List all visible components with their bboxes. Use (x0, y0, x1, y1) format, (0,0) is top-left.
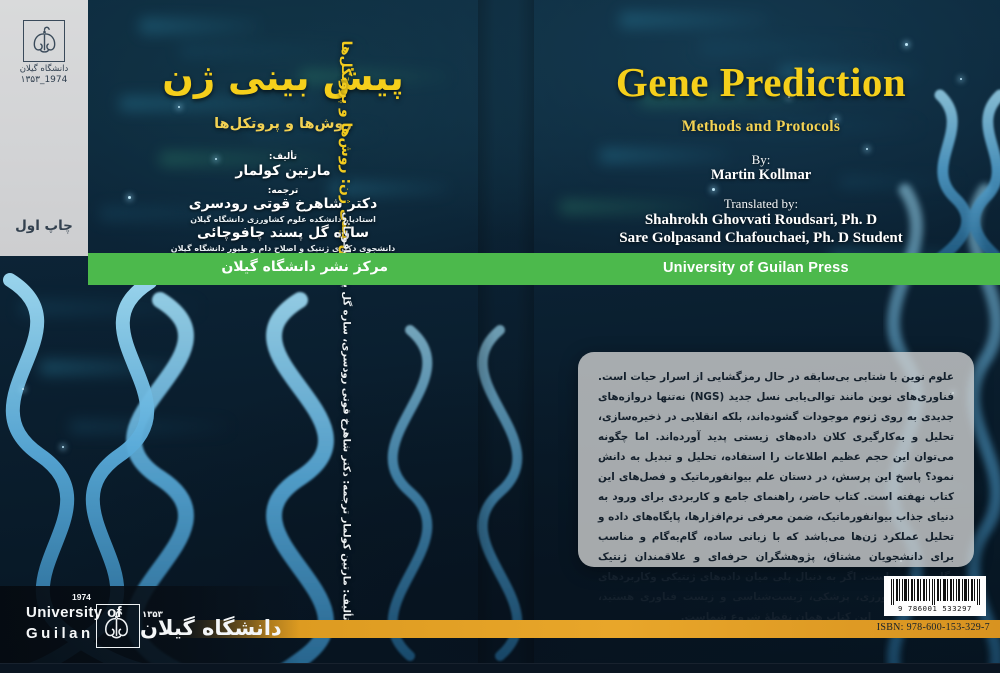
university-logo-bar: 1974 University of Guilan ۱۳۵۳ دانشگاه گ… (0, 586, 300, 664)
guilan-emblem-icon (23, 20, 65, 62)
back-title-fa: پیش بینی ژن (88, 56, 478, 99)
emblem-glyph-icon (26, 21, 63, 58)
back-translator-2-name: ساره گل پسند چافوچائی (88, 225, 478, 241)
book-cover: دانشگاه گیلان ۱۳۵۳_1974 چاپ اول مرکز نشر… (0, 0, 1000, 673)
back-author-name: مارتین کولمار (88, 163, 478, 179)
back-translator-1-affiliation: استادیار دانشکده علوم کشاورزی دانشگاه گی… (88, 215, 478, 224)
flap-years: ۱۳۵۳_1974 (16, 75, 72, 85)
guilan-emblem-icon-large (96, 604, 140, 648)
front-title: Gene Prediction (534, 58, 988, 106)
logo-year-gregorian: 1974 (72, 592, 91, 602)
publisher-name-fa: مرکز نشر دانشگاه گیلان (221, 259, 388, 275)
book-spine: پیش بینی ژن: روش‌ها و پروتکل‌ها تألیف: م… (478, 0, 534, 673)
barcode-digits: 9 786001 533297 (888, 604, 982, 613)
front-translated-by-label: Translated by: (534, 196, 988, 212)
back-translator-2-affiliation: دانشجوی دکتری ژنتیک و اصلاح دام و طیور د… (88, 244, 478, 253)
front-author-name: Martin Kollmar (534, 167, 988, 184)
back-cover-blurb-panel: علوم نوین با شتابی بی‌سابقه در حال رمزگش… (578, 352, 974, 567)
isbn-text: ISBN: 978-600-153-329-7 (877, 622, 990, 633)
publisher-green-band: مرکز نشر دانشگاه گیلان University of Gui… (88, 253, 1000, 285)
back-translator-1-name: دکتر شاهرخ قوتی رودسری (88, 196, 478, 212)
flap-university-name-fa: دانشگاه گیلان (16, 64, 72, 74)
spine-authors: تألیف: مارتین کولمار ترجمه: دکتر شاهرخ ق… (341, 301, 352, 621)
front-subtitle: Methods and Protocols (534, 118, 988, 136)
back-author-label: تألیف: (88, 152, 478, 162)
flap-university-logo: دانشگاه گیلان ۱۳۵۳_1974 (16, 20, 72, 85)
back-subtitle-fa: روش‌ها و پروتکل‌ها (88, 116, 478, 132)
edition-label: چاپ اول (0, 218, 88, 234)
front-translator-2: Sare Golpasand Chafouchaei, Ph. D Studen… (534, 230, 988, 247)
back-translator-label: ترجمه: (88, 186, 478, 196)
bottom-trim-strip (0, 663, 1000, 673)
publisher-name-en: University of Guilan Press (663, 260, 849, 276)
barcode-bars-icon (888, 579, 982, 605)
isbn-barcode: 9 786001 533297 (884, 576, 986, 616)
logo-university-name-fa: دانشگاه گیلان (140, 616, 282, 640)
emblem-glyph-icon-large (97, 605, 136, 644)
front-translator-1: Shahrokh Ghovvati Roudsari, Ph. D (534, 212, 988, 229)
cover-flap-panel: دانشگاه گیلان ۱۳۵۳_1974 چاپ اول (0, 0, 88, 256)
front-by-label: By: (534, 152, 988, 168)
back-cover-title-block: پیش بینی ژن روش‌ها و پروتکل‌ها تألیف: ما… (88, 0, 478, 673)
